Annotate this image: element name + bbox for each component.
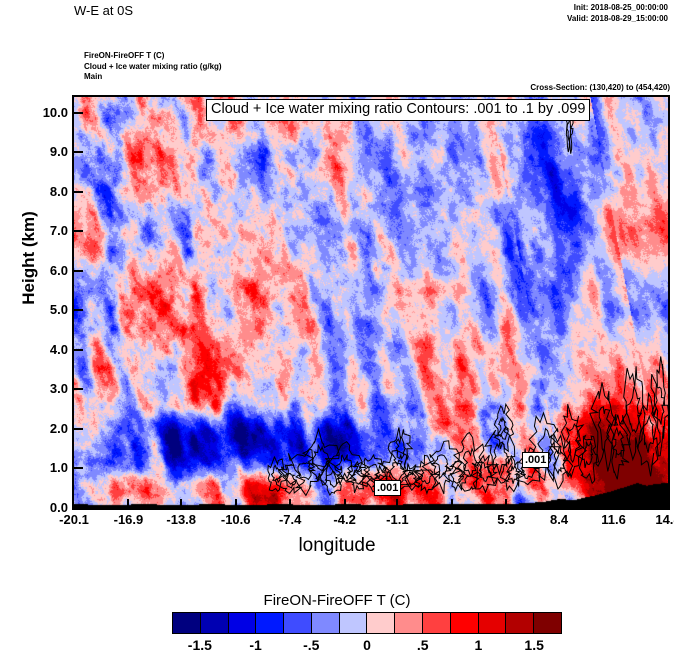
colorbar-cell [312,613,340,633]
x-tick-mark [289,499,291,510]
contour-value-label: .001 [374,480,401,496]
y-tick-label: 10.0 [28,105,68,120]
y-tick-mark [74,309,83,311]
y-axis-title: Height (km) [19,183,39,333]
contour-line [590,382,618,471]
colorbar-tick-labels: -1.5-1-.50.511.5 [172,637,562,657]
colorbar-cell [256,613,284,633]
y-tick-mark [74,112,83,114]
x-axis-tick-marks [72,499,670,510]
caption-temperature: FireON-FireOFF T (C) [84,51,222,62]
colorbar-tick-label: -1.5 [170,637,230,653]
colorbar-tick-label: 1.5 [504,637,564,653]
x-tick-mark [558,499,560,510]
y-tick-mark [74,388,83,390]
y-tick-label: 1.0 [28,460,68,475]
x-tick-mark [613,499,615,510]
colorbar-cell [451,613,479,633]
contour-line [303,429,339,485]
contour-line [268,457,288,491]
contour-line [287,449,324,495]
x-tick-mark [505,499,507,510]
contour-line [421,469,434,484]
page-title: W-E at 0S [74,3,133,18]
init-time: Init: 2018-08-25_00:00:00 [567,2,668,13]
colorbar-cell [229,613,257,633]
contour-line [388,427,412,469]
colorbar-tick-label: .5 [393,637,453,653]
contour-line [643,416,653,452]
plot-title-box: Cloud + Ice water mixing ratio Contours:… [206,99,590,121]
contour-line [463,449,477,476]
colorbar-cell [506,613,534,633]
contour-line [396,437,406,459]
colorbar-cell [340,613,368,633]
y-tick-mark [74,191,83,193]
contour-line [498,418,508,440]
colorbar-tick-label: 0 [337,637,397,653]
y-tick-mark [74,428,83,430]
colorbar-cell [534,613,561,633]
y-tick-mark [74,467,83,469]
x-tick-label: 14.8 [633,512,674,527]
mixing-ratio-contours [74,97,668,508]
y-tick-mark [74,349,83,351]
contour-value-label: .001 [522,452,549,468]
colorbar-cell [201,613,229,633]
x-tick-mark [451,499,453,510]
contour-line [561,404,586,477]
caption-domain: Main [84,72,222,83]
contour-line [613,428,624,458]
contour-line [285,474,296,488]
init-valid-times: Init: 2018-08-25_00:00:00 Valid: 2018-08… [567,2,668,24]
colorbar-title: FireON-FireOFF T (C) [0,592,674,609]
colorbar-tick-label: -.5 [281,637,341,653]
cross-section-coordinates: Cross-Section: (130,420) to (454,420) [530,83,670,92]
contour-line [655,386,664,425]
colorbar-cell [395,613,423,633]
field-captions: FireON-FireOFF T (C) Cloud + Ice water m… [84,51,222,83]
y-tick-label: 4.0 [28,342,68,357]
colorbar-cell [423,613,451,633]
x-tick-mark [396,499,398,510]
y-tick-label: 9.0 [28,144,68,159]
contour-line [325,471,340,487]
cross-section-plot: .001.001 Cloud + Ice water mixing ratio … [72,95,670,510]
x-tick-mark [344,499,346,510]
caption-mixing-ratio: Cloud + Ice water mixing ratio (g/kg) [84,62,222,73]
colorbar-cell [284,613,312,633]
x-tick-mark [235,499,237,510]
colorbar [172,612,562,634]
colorbar-tick-label: 1 [448,637,508,653]
valid-time: Valid: 2018-08-29_15:00:00 [567,13,668,24]
x-axis-title: longitude [0,535,674,557]
x-tick-mark [127,499,129,510]
colorbar-tick-label: -1 [226,637,286,653]
colorbar-cell [367,613,395,633]
contour-line [627,387,642,433]
contour-line [422,441,460,494]
x-tick-mark [180,499,182,510]
y-tick-label: 2.0 [28,421,68,436]
y-tick-mark [74,270,83,272]
y-tick-mark [74,151,83,153]
y-tick-label: 3.0 [28,381,68,396]
colorbar-cell [479,613,507,633]
y-axis-tick-marks [74,95,83,510]
contour-line [444,462,470,491]
y-tick-mark [74,230,83,232]
colorbar-cell [173,613,201,633]
